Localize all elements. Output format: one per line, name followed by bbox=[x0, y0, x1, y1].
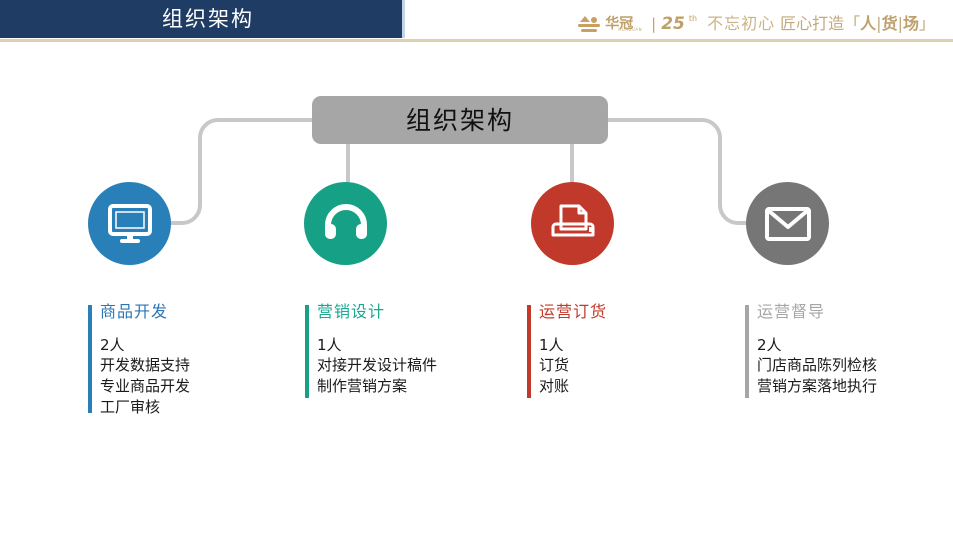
column-body: 1人 订货 对账 bbox=[539, 335, 707, 397]
column-line: 2人 bbox=[100, 335, 268, 356]
brand-slogan: 不忘初心 bbox=[707, 16, 775, 32]
column-line: 专业商品开发 bbox=[100, 376, 268, 397]
tagline-word-goods: 货 bbox=[882, 14, 898, 33]
connector-lines bbox=[0, 0, 953, 538]
detail-column-supervision: 运营督导 2人 门店商品陈列检核 营销方案落地执行 bbox=[745, 303, 945, 398]
tagline-prefix: 匠心打造 bbox=[780, 14, 844, 33]
column-title: 营销设计 bbox=[317, 303, 495, 321]
column-title: 商品开发 bbox=[100, 303, 268, 321]
column-line: 门店商品陈列检核 bbox=[757, 355, 945, 376]
header-rule bbox=[0, 39, 953, 42]
detail-column-marketing: 营销设计 1人 对接开发设计稿件 制作营销方案 bbox=[305, 303, 495, 398]
monitor-icon bbox=[107, 203, 153, 245]
column-line: 对账 bbox=[539, 376, 707, 397]
header-banner: 组织架构 bbox=[0, 0, 405, 38]
column-body: 2人 开发数据支持 专业商品开发 工厂审核 bbox=[100, 335, 268, 418]
column-line: 营销方案落地执行 bbox=[757, 376, 945, 397]
brand-lockup: 华冠 HUAGUAN | 25 th 不忘初心 匠心打造「人|货|场」 bbox=[578, 11, 935, 37]
brand-anniversary: 25 bbox=[661, 16, 685, 33]
column-title: 运营订货 bbox=[539, 303, 707, 321]
page-title: 组织架构 bbox=[148, 9, 254, 30]
tagline-word-place: 场 bbox=[903, 14, 919, 33]
column-line: 对接开发设计稿件 bbox=[317, 355, 495, 376]
accent-bar bbox=[88, 305, 92, 413]
column-body: 1人 对接开发设计稿件 制作营销方案 bbox=[317, 335, 495, 397]
accent-bar bbox=[527, 305, 531, 398]
accent-bar bbox=[305, 305, 309, 398]
node-icon-circle-supervision[interactable] bbox=[746, 182, 829, 265]
huaguan-crown-logo-icon bbox=[578, 16, 600, 33]
accent-bar bbox=[745, 305, 749, 398]
column-title: 运营督导 bbox=[757, 303, 945, 321]
brand-separator: | bbox=[651, 17, 656, 32]
column-body: 2人 门店商品陈列检核 营销方案落地执行 bbox=[757, 335, 945, 397]
node-icon-circle-ordering[interactable] bbox=[531, 182, 614, 265]
tagline-open-bracket: 「 bbox=[844, 14, 860, 33]
slide-canvas: 组织架构 华冠 HUAGUAN | 25 th 不忘初心 匠心打造「人|货|场」 bbox=[0, 0, 953, 538]
column-line: 订货 bbox=[539, 355, 707, 376]
brand-tagline: 匠心打造「人|货|场」 bbox=[780, 16, 935, 32]
detail-column-merchandise: 商品开发 2人 开发数据支持 专业商品开发 工厂审核 bbox=[88, 303, 268, 413]
tagline-close-bracket: 」 bbox=[919, 14, 935, 33]
column-line: 1人 bbox=[317, 335, 495, 356]
org-chart-root-node[interactable]: 组织架构 bbox=[312, 96, 608, 144]
headphones-icon bbox=[323, 204, 369, 244]
brand-anniversary-superscript: th bbox=[689, 14, 697, 23]
detail-column-ordering: 运营订货 1人 订货 对账 bbox=[527, 303, 707, 398]
brand-name-pinyin: HUAGUAN bbox=[618, 27, 642, 32]
column-line: 1人 bbox=[539, 335, 707, 356]
printer-icon bbox=[550, 202, 596, 246]
envelope-icon bbox=[765, 206, 811, 242]
node-icon-circle-marketing[interactable] bbox=[304, 182, 387, 265]
column-line: 制作营销方案 bbox=[317, 376, 495, 397]
column-line: 开发数据支持 bbox=[100, 355, 268, 376]
column-line: 2人 bbox=[757, 335, 945, 356]
tagline-word-person: 人 bbox=[860, 14, 876, 33]
column-line: 工厂审核 bbox=[100, 397, 268, 418]
node-icon-circle-merchandise[interactable] bbox=[88, 182, 171, 265]
root-node-label: 组织架构 bbox=[406, 108, 514, 133]
